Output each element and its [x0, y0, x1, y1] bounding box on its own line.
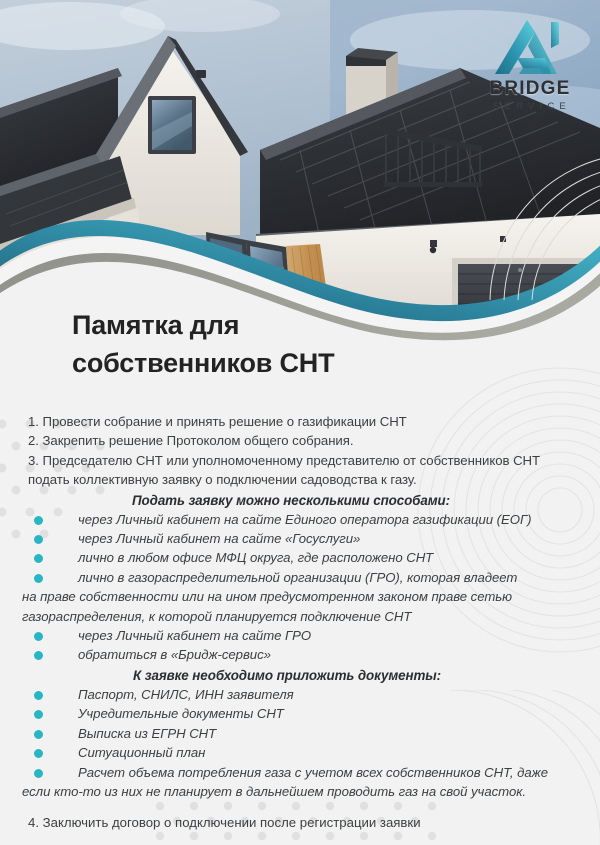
triangle-a-logo-icon: [493, 18, 567, 76]
list-item: Учредительные документы СНТ: [0, 704, 600, 723]
list-item-text: Выписка из ЕГРН СНТ: [78, 726, 216, 741]
bullet-icon: [34, 554, 43, 563]
list-item-text: обратиться в «Бридж-сервис»: [78, 647, 271, 662]
list-item: Выписка из ЕГРН СНТ: [0, 724, 600, 743]
list-item-text: через Личный кабинет на сайте ГРО: [78, 628, 311, 643]
list-item: через Личный кабинет на сайте «Госуслуги…: [0, 529, 600, 548]
list-item: через Личный кабинет на сайте ГРО: [0, 626, 600, 645]
list-item-text: через Личный кабинет на сайте Единого оп…: [78, 512, 531, 527]
list-item-continued: если кто-то из них не планирует в дальне…: [22, 782, 600, 801]
bullet-icon: [34, 691, 43, 700]
list-item: лично в любом офисе МФЦ округа, где расп…: [0, 548, 600, 567]
bullet-icon: [34, 574, 43, 583]
documents-heading: К заявке необходимо приложить документы:: [0, 668, 600, 683]
bullet-icon: [34, 710, 43, 719]
list-item-text: Ситуационный план: [78, 745, 205, 760]
step-3-continued: подать коллективную заявку о подключении…: [28, 470, 576, 489]
list-item-text: через Личный кабинет на сайте «Госуслуги…: [78, 531, 360, 546]
page-title: Памятка для собственников СНТ: [72, 306, 492, 383]
list-item: через Личный кабинет на сайте Единого оп…: [0, 510, 600, 529]
step-3: 3. Председателю СНТ или уполномоченному …: [28, 451, 576, 470]
step-2: 2. Закрепить решение Протоколом общего с…: [28, 431, 576, 450]
bullet-icon: [34, 651, 43, 660]
brand-name: BRIDGE: [489, 79, 570, 98]
list-item-continued: на праве собственности или на ином преду…: [22, 587, 600, 626]
bullet-icon: [34, 632, 43, 641]
list-item: Паспорт, СНИЛС, ИНН заявителя: [0, 685, 600, 704]
documents-list: Паспорт, СНИЛС, ИНН заявителя Учредитель…: [0, 685, 600, 801]
title-line-1: Памятка для: [72, 306, 492, 344]
brand-subtitle: SERVICE: [493, 102, 571, 112]
brand-logo[interactable]: BRIDGE SERVICE: [478, 18, 582, 122]
list-item-text: лично в газораспределительной организаци…: [78, 570, 517, 585]
list-item: Ситуационный план: [0, 743, 600, 762]
list-item: лично в газораспределительной организаци…: [0, 568, 600, 626]
content-body: 1. Провести собрание и принять решение о…: [0, 412, 600, 833]
methods-list: через Личный кабинет на сайте Единого оп…: [0, 510, 600, 665]
list-item-text: Расчет объема потребления газа с учетом …: [78, 765, 548, 780]
poster-page: BRIDGE SERVICE Памятка для собственников…: [0, 0, 600, 845]
list-item: Расчет объема потребления газа с учетом …: [0, 763, 600, 802]
final-step: 4. Заключить договор о подключении после…: [0, 813, 600, 832]
bullet-icon: [34, 535, 43, 544]
bullet-icon: [34, 730, 43, 739]
methods-heading: Подать заявку можно несколькими способам…: [0, 493, 600, 508]
list-item-text: Паспорт, СНИЛС, ИНН заявителя: [78, 687, 294, 702]
bullet-icon: [34, 769, 43, 778]
list-item-text: Учредительные документы СНТ: [78, 706, 284, 721]
list-item: обратиться в «Бридж-сервис»: [0, 645, 600, 664]
step-1: 1. Провести собрание и принять решение о…: [28, 412, 576, 431]
bullet-icon: [34, 516, 43, 525]
title-line-2: собственников СНТ: [72, 344, 492, 382]
numbered-steps: 1. Провести собрание и принять решение о…: [0, 412, 600, 490]
bullet-icon: [34, 749, 43, 758]
list-item-text: лично в любом офисе МФЦ округа, где расп…: [78, 550, 433, 565]
